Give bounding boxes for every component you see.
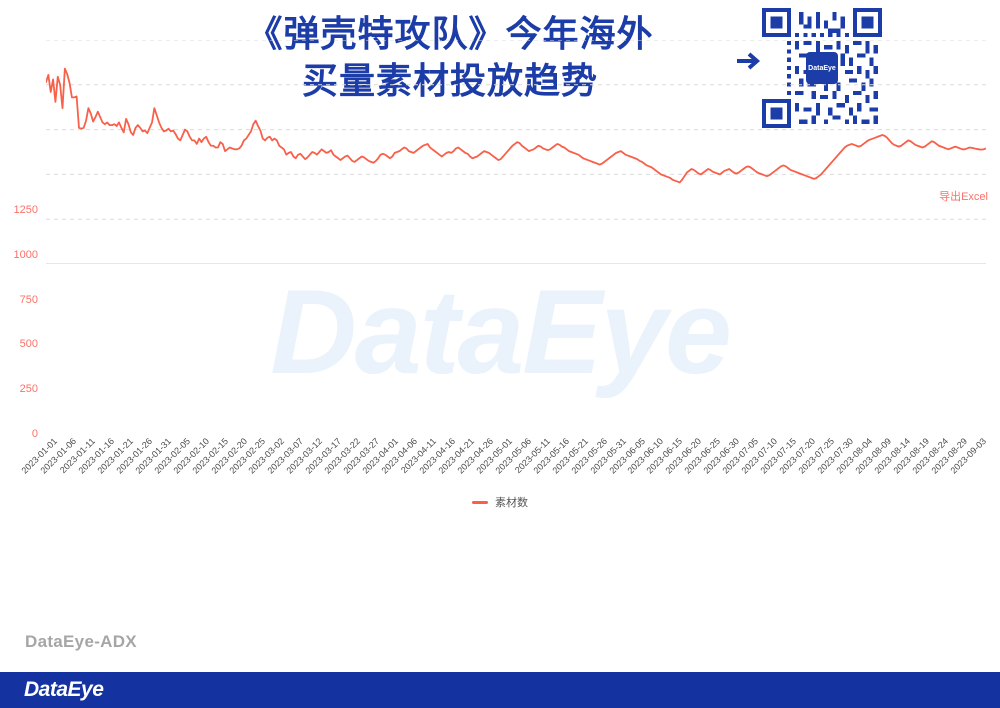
y-axis-tick-label: 0 — [32, 428, 38, 440]
footer-bar: DataEye — [0, 672, 1000, 708]
y-axis-tick-label: 1250 — [14, 204, 38, 216]
line-chart-plot — [46, 40, 986, 264]
chart-legend: 素材数 — [0, 494, 1000, 510]
y-axis: 025050075010001250 — [0, 170, 44, 460]
y-axis-tick-label: 500 — [20, 338, 38, 350]
legend-color-swatch — [472, 501, 488, 504]
footer-logo: DataEye — [24, 678, 103, 702]
y-axis-tick-label: 1000 — [14, 249, 38, 261]
source-label: DataEye-ADX — [25, 632, 137, 652]
y-axis-tick-label: 750 — [20, 294, 38, 306]
y-axis-tick-label: 250 — [20, 383, 38, 395]
x-axis: 2023-01-012023-01-062023-01-112023-01-16… — [46, 436, 996, 496]
line-series-0 — [46, 69, 986, 183]
legend-item-label: 素材数 — [495, 494, 528, 510]
line-chart-svg — [46, 40, 986, 264]
